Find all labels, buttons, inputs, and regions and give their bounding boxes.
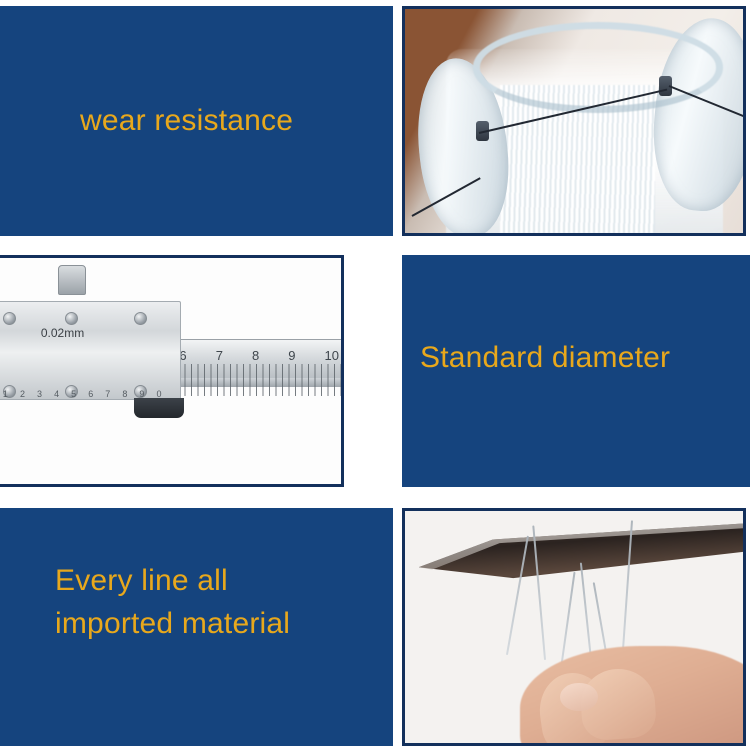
caption-imported-line-2: imported material bbox=[55, 603, 393, 646]
spool-rim bbox=[473, 22, 724, 112]
vernier-num-5: 5 bbox=[71, 389, 76, 399]
vernier-num-4: 4 bbox=[54, 389, 59, 399]
panel-spool-photo bbox=[402, 6, 746, 236]
caliper-num-9: 9 bbox=[288, 348, 295, 363]
vernier-num-7: 7 bbox=[105, 389, 110, 399]
vernier-num-2: 2 bbox=[20, 389, 25, 399]
spool-photo-inner bbox=[405, 9, 743, 233]
vernier-num-8: 8 bbox=[122, 389, 127, 399]
panel-imported-material: Every line all imported material bbox=[0, 508, 393, 746]
caliper-photo-inner: 1 2 3 4 5 6 7 8 9 10 0.02mm 1 2 bbox=[0, 258, 341, 484]
caliper-num-8: 8 bbox=[252, 348, 259, 363]
caliper-slider-jaw bbox=[0, 301, 181, 400]
caption-wear-resistance: wear resistance bbox=[80, 100, 393, 143]
caliper-precision-label: 0.02mm bbox=[41, 326, 84, 340]
fingernail bbox=[560, 683, 597, 711]
caption-standard-diameter: Standard diameter bbox=[420, 337, 750, 380]
caliper-num-7: 7 bbox=[216, 348, 223, 363]
panel-wear-resistance: wear resistance bbox=[0, 6, 393, 236]
vernier-num-6: 6 bbox=[88, 389, 93, 399]
hand-photo-inner bbox=[405, 511, 743, 743]
caliper-thumb-screw bbox=[58, 265, 86, 295]
vernier-num-3: 3 bbox=[37, 389, 42, 399]
infographic-page: wear resistance 1 bbox=[0, 0, 750, 750]
caliper-depth-foot bbox=[134, 398, 184, 418]
panel-standard-diameter: Standard diameter bbox=[402, 255, 750, 487]
panel-caliper-photo: 1 2 3 4 5 6 7 8 9 10 0.02mm 1 2 bbox=[0, 255, 344, 487]
vernier-num-1: 1 bbox=[3, 389, 8, 399]
caliper-num-10: 10 bbox=[325, 348, 339, 363]
caption-imported-line-1: Every line all bbox=[55, 560, 393, 603]
panel-hand-lines-photo bbox=[402, 508, 746, 746]
